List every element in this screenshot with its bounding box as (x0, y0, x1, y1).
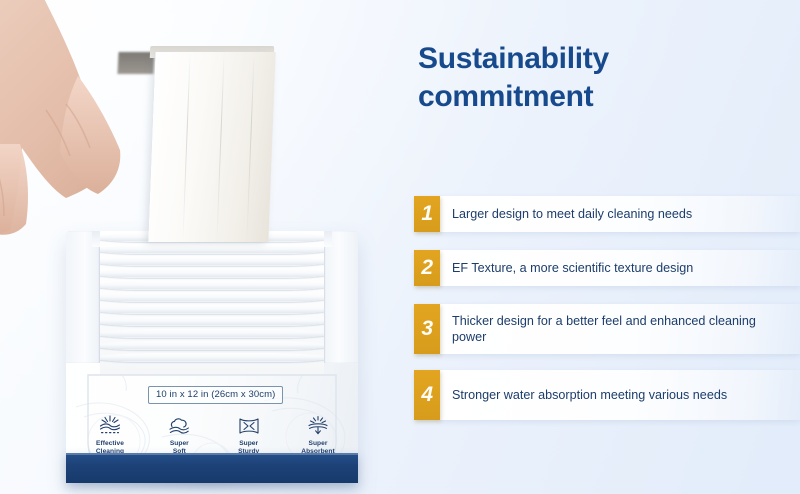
feature-icons-row: Effective Cleaning Super S (78, 415, 350, 455)
title-line-1: Sustainability (418, 42, 609, 75)
promotional-banner: 10 in x 12 in (26cm x 30cm) (0, 0, 800, 494)
spray-cleaning-icon (98, 415, 122, 437)
feature-effective-cleaning: Effective Cleaning (78, 415, 142, 455)
box-bottom-band (66, 453, 358, 483)
band-highlight (66, 453, 358, 455)
soft-cloud-icon (167, 415, 191, 437)
badge-number: 2 (421, 257, 432, 278)
list-item-text: Stronger water absorption meeting variou… (452, 387, 727, 404)
list-item-card: Stronger water absorption meeting variou… (440, 370, 800, 420)
list-item-card: Thicker design for a better feel and enh… (440, 304, 800, 354)
feature-super-absorbent: Super Absorbent (286, 415, 350, 455)
list-item-text: Larger design to meet daily cleaning nee… (452, 206, 692, 223)
feature-super-soft: Super Soft (147, 415, 211, 455)
list-item-number-badge: 2 (414, 250, 440, 286)
text-panel: Sustainability commitment 1 Larger desig… (400, 0, 800, 494)
list-item: 2 EF Texture, a more scientific texture … (414, 250, 800, 286)
sturdy-stretch-icon (237, 415, 261, 437)
list-item-card: EF Texture, a more scientific texture de… (440, 250, 800, 286)
list-item-text: EF Texture, a more scientific texture de… (452, 260, 693, 277)
water-droplet-icon (306, 415, 330, 437)
product-photo: 10 in x 12 in (26cm x 30cm) (0, 0, 400, 494)
list-item-text: Thicker design for a better feel and enh… (452, 313, 790, 346)
page-title: Sustainability commitment (418, 40, 788, 116)
list-item: 3 Thicker design for a better feel and e… (414, 304, 800, 354)
list-item-number-badge: 1 (414, 196, 440, 232)
size-label: 10 in x 12 in (26cm x 30cm) (148, 386, 283, 404)
benefits-list: 1 Larger design to meet daily cleaning n… (414, 196, 800, 434)
title-line-2: commitment (418, 78, 788, 116)
list-item-number-badge: 4 (414, 370, 440, 420)
badge-number: 4 (421, 384, 432, 405)
badge-number: 3 (421, 318, 432, 339)
list-item: 1 Larger design to meet daily cleaning n… (414, 196, 800, 232)
feature-super-sturdy: Super Sturdy (217, 415, 281, 455)
list-item-number-badge: 3 (414, 304, 440, 354)
badge-number: 1 (421, 203, 432, 224)
hand-pulling-towel (0, 0, 340, 292)
list-item-card: Larger design to meet daily cleaning nee… (440, 196, 800, 232)
list-item: 4 Stronger water absorption meeting vari… (414, 370, 800, 420)
